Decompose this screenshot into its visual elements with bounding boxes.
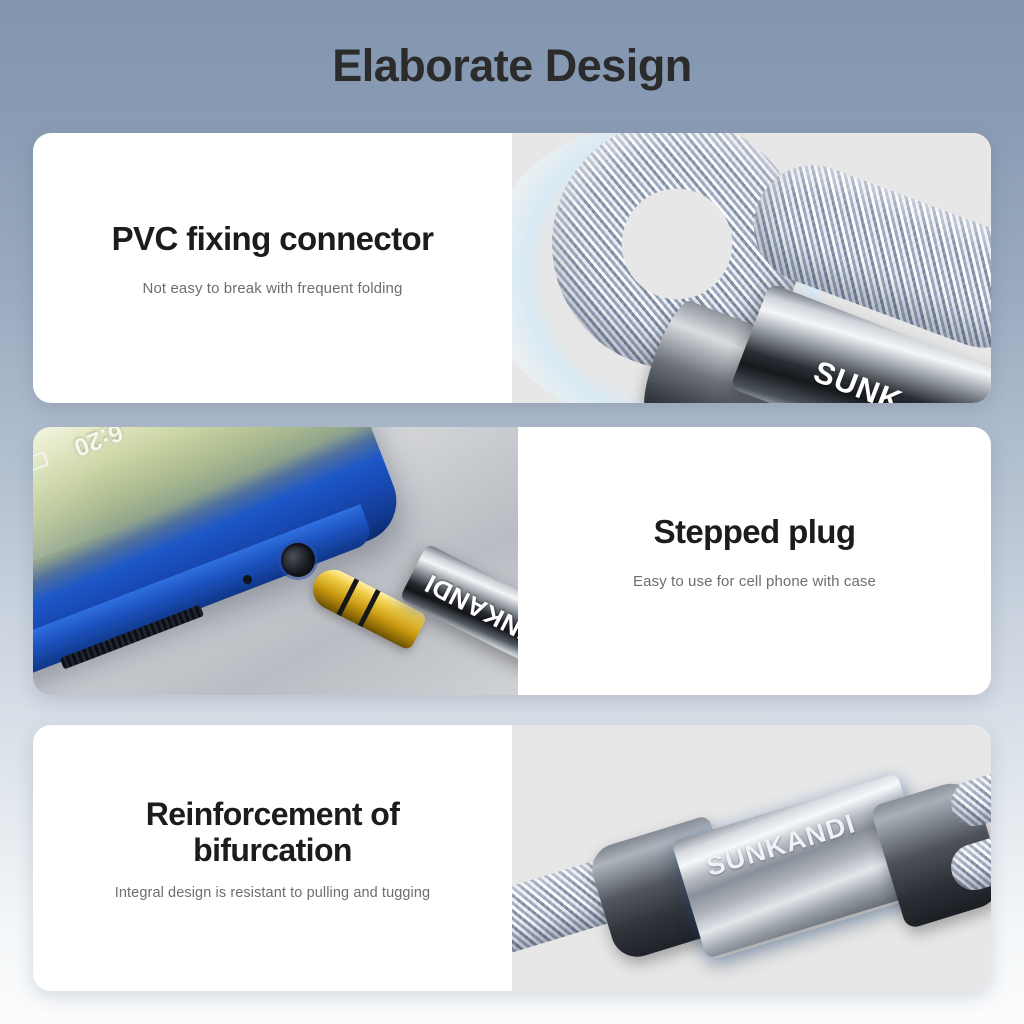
card-text-pane: Reinforcement of bifurcation Integral de… (33, 725, 512, 991)
feature-card-reinforcement-of-bifurcation[interactable]: Reinforcement of bifurcation Integral de… (33, 725, 991, 991)
card-heading-line-2: bifurcation (193, 832, 352, 868)
card-heading: PVC fixing connector (112, 221, 434, 258)
card-heading: Reinforcement of bifurcation (146, 797, 400, 869)
feature-card-pvc-fixing-connector[interactable]: PVC fixing connector Not easy to break w… (33, 133, 991, 403)
card-subtitle: Integral design is resistant to pulling … (115, 885, 430, 901)
card-image-pane: SUNK (512, 133, 991, 403)
card-image-pane: SUNKANDI (512, 725, 991, 991)
page-title: Elaborate Design (0, 40, 1024, 92)
card-subtitle: Easy to use for cell phone with case (633, 573, 876, 590)
card-heading-line-1: Reinforcement of (146, 796, 400, 832)
card-heading: Stepped plug (654, 514, 856, 551)
plug-insulator-ring (358, 589, 381, 627)
card-text-pane: Stepped plug Easy to use for cell phone … (518, 427, 991, 695)
card-subtitle: Not easy to break with frequent folding (143, 280, 403, 297)
card-text-pane: PVC fixing connector Not easy to break w… (33, 133, 512, 403)
card-image-pane: 6:20 SUNKANDI (33, 427, 518, 695)
plug-insulator-ring (337, 578, 360, 616)
feature-card-stepped-plug[interactable]: 6:20 SUNKANDI Stepped plug Easy to use f… (33, 427, 991, 695)
